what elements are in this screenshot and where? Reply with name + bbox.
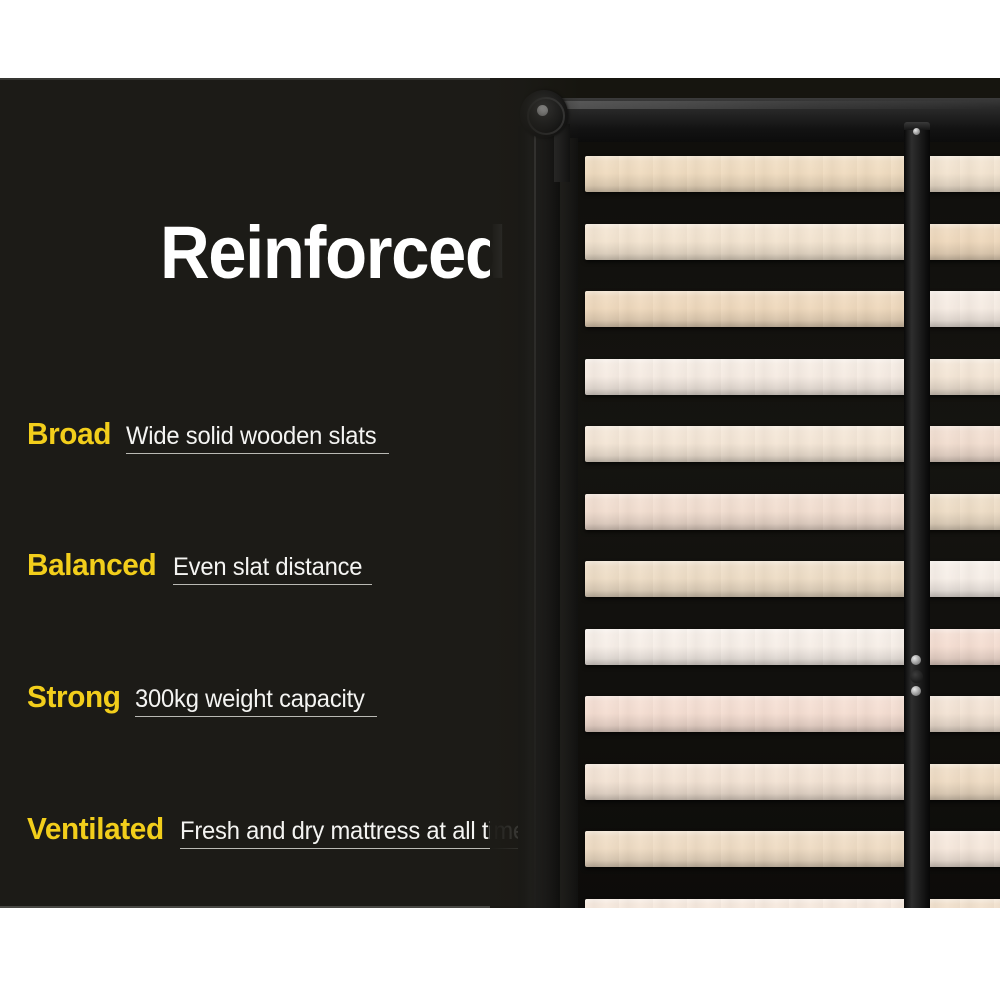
slat-grain	[926, 831, 1000, 867]
wooden-slat	[926, 764, 1000, 800]
wooden-slat	[585, 764, 915, 800]
corner-bolt-highlight	[537, 105, 548, 116]
feature-value-underline: Even slat distance	[173, 555, 372, 585]
product-photo	[490, 78, 1000, 908]
dark-content-panel: Reinforced thick slats Broad Wide solid …	[0, 78, 1000, 908]
wooden-slat	[585, 291, 915, 327]
wooden-slat	[585, 831, 915, 867]
slat-grain	[926, 156, 1000, 192]
feature-row-ventilated: Ventilated Fresh and dry mattress at all…	[27, 813, 557, 849]
wooden-slat	[926, 224, 1000, 260]
wooden-slat	[585, 359, 915, 395]
wooden-slat	[926, 426, 1000, 462]
slat-grain	[926, 426, 1000, 462]
slat-grain	[585, 494, 915, 530]
slat-grain	[926, 899, 1000, 909]
feature-key: Ventilated	[27, 813, 164, 844]
corner-bolt-ring	[527, 97, 565, 135]
feature-key: Balanced	[27, 549, 156, 580]
slat-grain	[585, 224, 915, 260]
wooden-slat	[585, 629, 915, 665]
feature-value: Wide solid wooden slats	[126, 424, 376, 449]
slat-grain	[926, 696, 1000, 732]
feature-row-broad: Broad Wide solid wooden slats	[27, 418, 389, 454]
feature-row-strong: Strong 300kg weight capacity	[27, 681, 377, 717]
wooden-slat	[585, 696, 915, 732]
feature-value-underline: Fresh and dry mattress at all times	[180, 819, 556, 849]
screw-recess-icon	[910, 670, 923, 683]
wooden-slat	[926, 291, 1000, 327]
slat-grain	[926, 629, 1000, 665]
wooden-slat	[926, 494, 1000, 530]
slat-grain	[585, 426, 915, 462]
wooden-slat	[926, 629, 1000, 665]
feature-value: Fresh and dry mattress at all times	[180, 819, 538, 844]
wooden-slat	[926, 831, 1000, 867]
slat-grain	[585, 899, 915, 909]
wooden-slat	[585, 156, 915, 192]
slat-grain	[585, 831, 915, 867]
slat-grain	[585, 359, 915, 395]
feature-value-underline: 300kg weight capacity	[135, 687, 377, 717]
center-support-rail	[904, 126, 930, 908]
slat-grain	[926, 224, 1000, 260]
wooden-slat	[585, 561, 915, 597]
screw-icon	[911, 686, 921, 696]
slat-grain	[585, 156, 915, 192]
wooden-slat	[926, 899, 1000, 909]
wooden-slat	[926, 561, 1000, 597]
slat-grain	[585, 291, 915, 327]
slat-grain	[585, 764, 915, 800]
wooden-slat	[585, 426, 915, 462]
feature-row-balanced: Balanced Even slat distance	[27, 549, 372, 585]
slat-grain	[926, 359, 1000, 395]
poster-canvas: Reinforced thick slats Broad Wide solid …	[0, 0, 1000, 1000]
feature-key: Strong	[27, 681, 121, 712]
wooden-slat	[585, 494, 915, 530]
left-rail-inner-face	[560, 138, 578, 908]
slat-grain	[926, 561, 1000, 597]
left-vertical-metal-rail	[518, 126, 560, 908]
screw-icon	[913, 128, 920, 135]
feature-key: Broad	[27, 418, 111, 449]
wooden-slat	[585, 899, 915, 909]
top-rail-sheen	[550, 101, 1000, 109]
slat-grain	[585, 561, 915, 597]
slat-grain	[926, 494, 1000, 530]
wooden-slat	[926, 156, 1000, 192]
left-rail-highlight-edge	[534, 130, 536, 908]
wooden-slat	[926, 696, 1000, 732]
feature-value: 300kg weight capacity	[135, 687, 365, 712]
slat-grain	[926, 291, 1000, 327]
slat-grain	[585, 629, 915, 665]
screw-icon	[911, 655, 921, 665]
slat-grain	[585, 696, 915, 732]
slat-grain	[926, 764, 1000, 800]
feature-value-underline: Wide solid wooden slats	[126, 424, 390, 454]
wooden-slat	[926, 359, 1000, 395]
wooden-slat	[585, 224, 915, 260]
feature-value: Even slat distance	[173, 555, 362, 580]
